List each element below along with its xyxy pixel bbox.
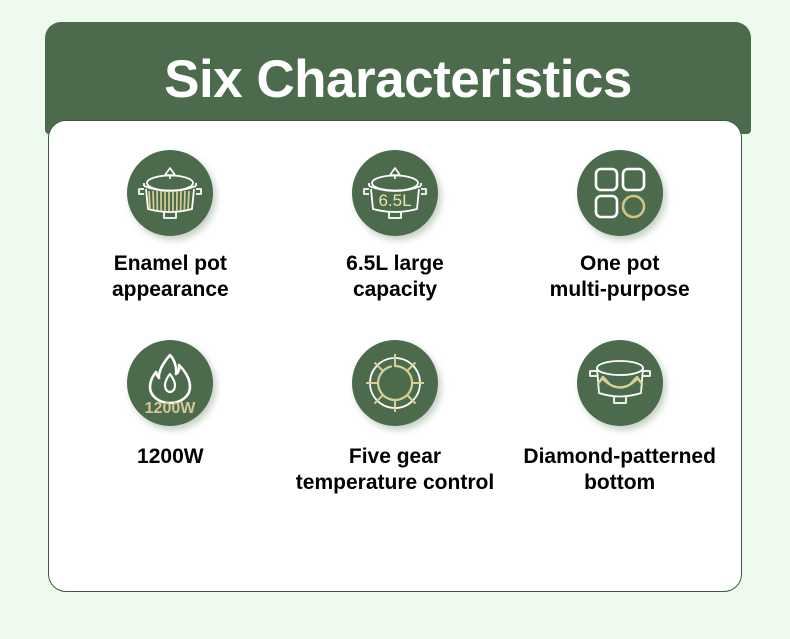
icon-circle: 6.5L [352,150,438,236]
flame-power-icon: 1200W [138,351,202,415]
capacity-value: 6.5L [378,191,411,210]
feature-label-line1: One pot [580,252,659,275]
feature-item-capacity[interactable]: 6.5L 6.5L large capacity [283,150,508,340]
power-value: 1200W [145,400,197,415]
temperature-dial-icon [364,352,426,414]
feature-item-enamel-pot[interactable]: Enamel pot appearance [58,150,283,340]
icon-circle [577,340,663,426]
feature-item-temperature[interactable]: Five gear temperature control [283,340,508,530]
feature-label-line1: 1200W [137,445,204,468]
feature-label-line2: capacity [353,278,437,301]
header-banner: Six Characteristics [45,22,751,134]
feature-label: 6.5L large capacity [346,251,444,303]
feature-label: Diamond-patterned bottom [523,444,716,496]
feature-label-line1: Diamond-patterned [523,445,716,468]
multi-purpose-grid-icon [593,166,647,220]
feature-label-line1: Enamel pot [114,252,227,275]
six-characteristics-panel: Six Characteristics [0,0,790,639]
feature-item-multi-purpose[interactable]: One pot multi-purpose [507,150,732,340]
enamel-pot-icon [137,165,203,221]
feature-label-line2: temperature control [296,471,494,494]
feature-label-line2: appearance [112,278,229,301]
feature-label-line2: multi-purpose [550,278,690,301]
feature-label: One pot multi-purpose [550,251,690,303]
feature-label: Five gear temperature control [296,444,494,496]
feature-label-line2: bottom [584,471,655,494]
page-title: Six Characteristics [45,50,751,110]
feature-label: 1200W [137,444,204,470]
icon-circle [577,150,663,236]
icon-circle: 1200W [127,340,213,426]
diamond-bottom-pot-icon [587,358,653,408]
feature-item-diamond-bottom[interactable]: Diamond-patterned bottom [507,340,732,530]
feature-label: Enamel pot appearance [112,251,229,303]
capacity-pot-icon: 6.5L [362,165,428,221]
feature-label-line1: 6.5L large [346,252,444,275]
feature-label-line1: Five gear [349,445,441,468]
icon-circle [127,150,213,236]
feature-item-power[interactable]: 1200W 1200W [58,340,283,530]
icon-circle [352,340,438,426]
features-grid: Enamel pot appearance 6.5L [58,150,732,570]
